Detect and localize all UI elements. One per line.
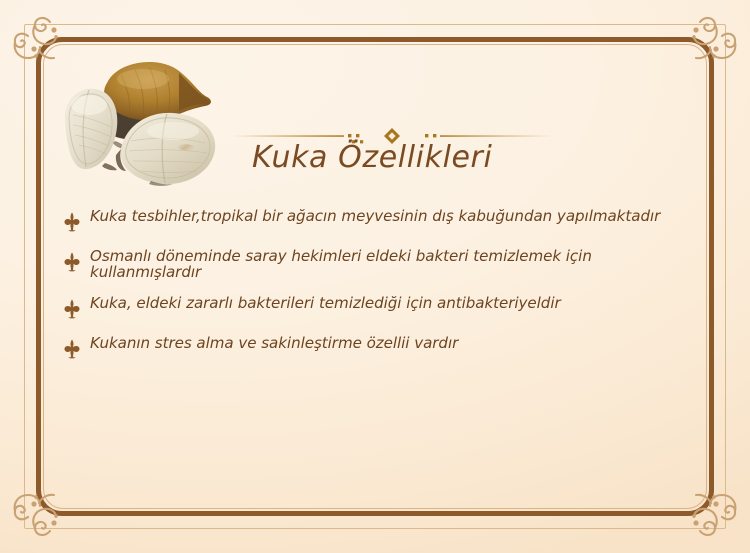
list-item: Kuka tesbihler,tropikal bir ağacın meyve… — [62, 209, 682, 233]
info-card: Kuka Özellikleri Kuka tesbihler,tropikal… — [0, 0, 750, 553]
kuka-seeds-photo — [55, 45, 237, 197]
fleur-de-lis-bullet-icon — [62, 251, 82, 273]
page-title: Kuka Özellikleri — [252, 140, 492, 175]
list-item-text: Kukanın stres alma ve sakinleştirme özel… — [90, 336, 674, 352]
corner-scroll-flourish-icon — [6, 469, 84, 547]
list-item: Osmanlı döneminde saray hekimleri eldeki… — [62, 249, 682, 280]
list-item-text: Osmanlı döneminde saray hekimleri eldeki… — [90, 249, 674, 280]
fleur-de-lis-bullet-icon — [62, 338, 82, 360]
list-item-text: Kuka, eldeki zararlı bakterileri temizle… — [90, 296, 674, 312]
features-list: Kuka tesbihler,tropikal bir ağacın meyve… — [62, 209, 682, 360]
list-item: Kukanın stres alma ve sakinleştirme özel… — [62, 336, 682, 360]
fleur-de-lis-bullet-icon — [62, 298, 82, 320]
fleur-de-lis-bullet-icon — [62, 211, 82, 233]
list-item: Kuka, eldeki zararlı bakterileri temizle… — [62, 296, 682, 320]
corner-scroll-flourish-icon — [666, 469, 744, 547]
corner-scroll-flourish-icon — [666, 6, 744, 84]
list-item-text: Kuka tesbihler,tropikal bir ağacın meyve… — [90, 209, 674, 225]
title-block: Kuka Özellikleri — [232, 120, 702, 190]
